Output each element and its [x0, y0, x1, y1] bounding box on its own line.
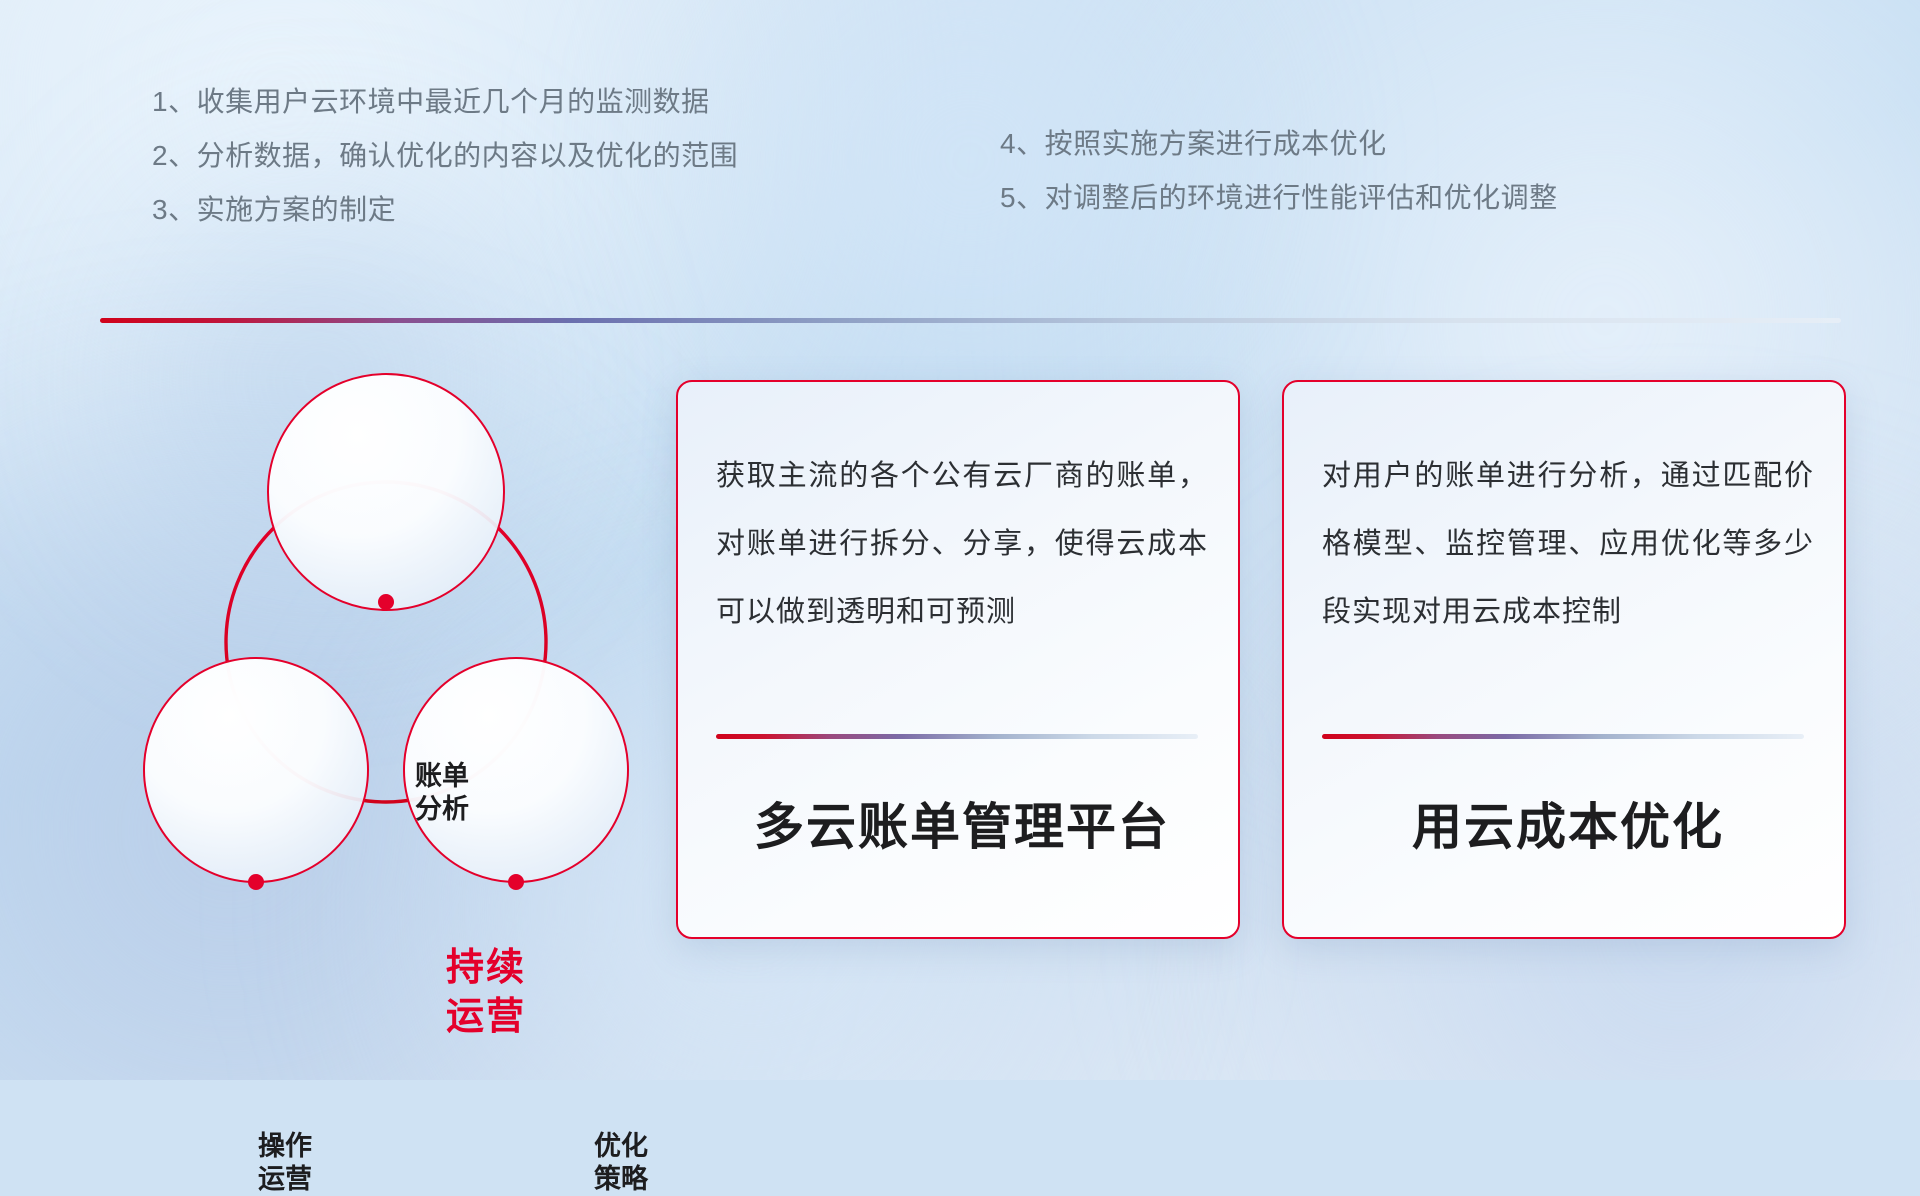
venn-node-dot-left: [248, 874, 264, 890]
venn-node-dot-right: [508, 874, 524, 890]
venn-node-dot-top: [378, 594, 394, 610]
card-multi-cloud-billing-platform[interactable]: 获取主流的各个公有云厂商的账单，对账单进行拆分、分享，使得云成本可以做到透明和可…: [676, 380, 1240, 939]
step-item-2: 2、分析数据，确认优化的内容以及优化的范围: [152, 142, 738, 170]
card-body-text: 获取主流的各个公有云厂商的账单，对账单进行拆分、分享，使得云成本可以做到透明和可…: [716, 442, 1208, 646]
step-item-1: 1、收集用户云环境中最近几个月的监测数据: [152, 88, 738, 116]
venn-label-operation: 操作 运营: [200, 1130, 370, 1196]
card-body-text: 对用户的账单进行分析，通过匹配价格模型、监控管理、应用优化等多少段实现对用云成本…: [1322, 442, 1814, 646]
card-divider: [716, 734, 1198, 739]
card-cloud-cost-optimization[interactable]: 对用户的账单进行分析，通过匹配价格模型、监控管理、应用优化等多少段实现对用云成本…: [1282, 380, 1846, 939]
card-title: 多云账单管理平台: [714, 797, 1210, 857]
steps-section: 1、收集用户云环境中最近几个月的监测数据 2、分析数据，确认优化的内容以及优化的…: [0, 88, 1920, 258]
section-divider: [100, 318, 1841, 323]
venn-bubble-operation[interactable]: [144, 658, 368, 882]
card-divider: [1322, 734, 1804, 739]
step-item-3: 3、实施方案的制定: [152, 196, 738, 224]
continuous-operation-diagram: 账单 分析 操作 运营 优化 策略 持续 运营: [96, 352, 676, 932]
venn-label-bill-analysis: 账单 分析: [352, 760, 532, 826]
step-item-5: 5、对调整后的环境进行性能评估和优化调整: [1000, 184, 1558, 212]
step-item-4: 4、按照实施方案进行成本优化: [1000, 130, 1558, 158]
card-title: 用云成本优化: [1320, 797, 1816, 857]
steps-column-right: 4、按照实施方案进行成本优化 5、对调整后的环境进行性能评估和优化调整: [1000, 130, 1558, 238]
steps-column-left: 1、收集用户云环境中最近几个月的监测数据 2、分析数据，确认优化的内容以及优化的…: [152, 88, 738, 250]
venn-bubble-bill-analysis[interactable]: [268, 374, 504, 610]
venn-center-label: 持续 运营: [371, 944, 601, 1043]
venn-label-optimization: 优化 策略: [536, 1130, 706, 1196]
venn-svg: [96, 352, 676, 932]
